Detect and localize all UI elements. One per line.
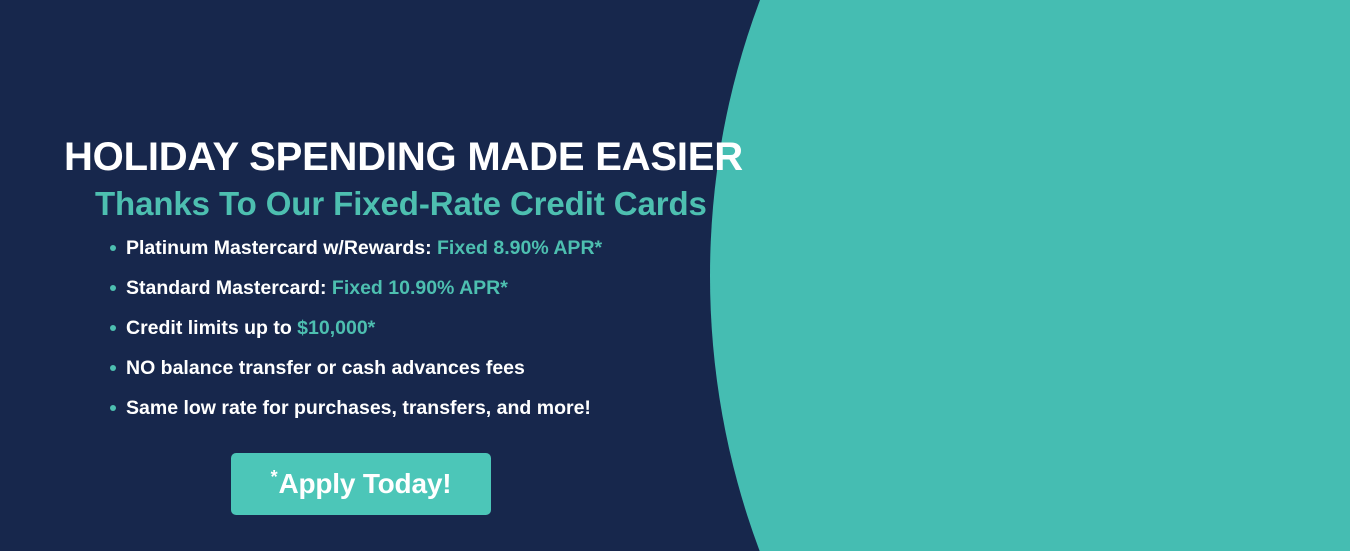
list-item-label: Credit limits up to bbox=[126, 317, 292, 339]
bullet-dot-icon bbox=[110, 325, 116, 331]
list-item-label: Platinum Mastercard w/Rewards: bbox=[126, 237, 432, 259]
apply-today-button[interactable]: *Apply Today! bbox=[231, 453, 491, 515]
list-item: Credit limits up to $10,000* bbox=[110, 316, 730, 340]
list-item-accent: Fixed 10.90% APR* bbox=[332, 277, 508, 299]
cta-asterisk: * bbox=[271, 468, 278, 486]
teal-curve-divider bbox=[708, 0, 1350, 551]
list-item-label: Standard Mastercard: bbox=[126, 277, 326, 299]
list-item-label: NO balance transfer or cash advances fee… bbox=[126, 357, 525, 379]
bullet-dot-icon bbox=[110, 285, 116, 291]
list-item-accent: $10,000* bbox=[297, 317, 375, 339]
page-title: HOLIDAY SPENDING MADE EASIER bbox=[64, 136, 743, 178]
holiday-credit-card-banner: HOLIDAY SPENDING MADE EASIER Thanks To O… bbox=[0, 0, 1350, 551]
banner-photo bbox=[720, 0, 1350, 551]
bullet-dot-icon bbox=[110, 365, 116, 371]
list-item-accent: Fixed 8.90% APR* bbox=[437, 237, 602, 259]
list-item: Platinum Mastercard w/Rewards: Fixed 8.9… bbox=[110, 236, 730, 260]
list-item-label: Same low rate for purchases, transfers, … bbox=[126, 397, 591, 419]
cta-label: Apply Today! bbox=[278, 468, 451, 500]
bullet-dot-icon bbox=[110, 405, 116, 411]
list-item: Standard Mastercard: Fixed 10.90% APR* bbox=[110, 276, 730, 300]
banner-content-panel: HOLIDAY SPENDING MADE EASIER Thanks To O… bbox=[0, 0, 790, 551]
list-item: NO balance transfer or cash advances fee… bbox=[110, 356, 730, 380]
bullet-dot-icon bbox=[110, 245, 116, 251]
feature-list: Platinum Mastercard w/Rewards: Fixed 8.9… bbox=[110, 236, 730, 436]
list-item: Same low rate for purchases, transfers, … bbox=[110, 396, 730, 420]
page-subtitle: Thanks To Our Fixed-Rate Credit Cards bbox=[95, 186, 707, 222]
